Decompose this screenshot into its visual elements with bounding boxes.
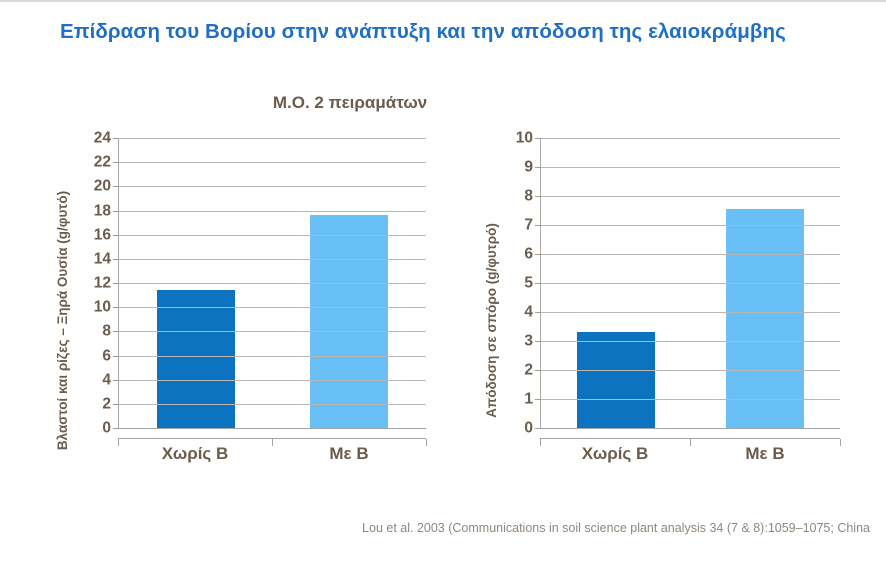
y-tick-label: 18	[94, 203, 111, 219]
y-tick-label: 24	[94, 130, 111, 146]
y-tick-mark	[113, 331, 119, 332]
plot-area-growth	[118, 138, 426, 428]
gridline	[119, 162, 426, 163]
gridline	[119, 211, 426, 212]
y-tick-label: 1	[524, 391, 533, 407]
y-tick-label: 14	[94, 251, 111, 267]
x-tick-mark	[426, 439, 427, 446]
bar-with-b[interactable]	[310, 215, 388, 428]
y-tick-mark	[113, 283, 119, 284]
y-tick-label: 0	[102, 420, 111, 436]
y-tick-mark	[113, 307, 119, 308]
x-tick-mark	[840, 439, 841, 446]
gridline	[541, 254, 840, 255]
y-tick-label: 5	[524, 275, 533, 291]
y-axis-title-yield: Απόδοση σε σπόρο (g/φυτρό)	[480, 140, 502, 500]
y-axis-title-growth-label: Βλαστοί και ρίζες – Ξηρά Ουσία (g/φυτό)	[56, 190, 71, 449]
gridline	[119, 404, 426, 405]
gridline	[541, 167, 840, 168]
y-axis-ticks-yield: 012345678910	[502, 138, 536, 428]
gridline	[119, 283, 426, 284]
y-tick-mark	[535, 312, 541, 313]
y-tick-mark	[535, 341, 541, 342]
y-tick-mark	[535, 283, 541, 284]
x-axis-growth	[118, 438, 426, 439]
y-tick-label: 10	[94, 299, 111, 315]
gridline	[541, 196, 840, 197]
y-tick-label: 4	[524, 304, 533, 320]
source-citation: Lou et al. 2003 (Communications in soil …	[300, 519, 870, 538]
x-axis-category-label: Χωρίς Β	[540, 444, 690, 464]
gridline	[541, 399, 840, 400]
gridline	[541, 283, 840, 284]
y-tick-label: 7	[524, 217, 533, 233]
gridline	[119, 259, 426, 260]
x-axis-category-label: Χωρίς Β	[118, 444, 272, 464]
gridline	[119, 235, 426, 236]
y-tick-mark	[113, 259, 119, 260]
y-axis-title-yield-label: Απόδοση σε σπόρο (g/φυτρό)	[484, 223, 499, 418]
bar-with-b[interactable]	[726, 209, 804, 428]
x-axis-category-label: Με Β	[272, 444, 426, 464]
y-tick-mark	[113, 404, 119, 405]
y-tick-mark	[535, 428, 541, 429]
gridline	[119, 356, 426, 357]
bar-without-b[interactable]	[577, 332, 655, 428]
y-tick-label: 9	[524, 159, 533, 175]
y-tick-label: 0	[524, 420, 533, 436]
gridline	[541, 225, 840, 226]
gridline	[119, 331, 426, 332]
y-tick-mark	[113, 356, 119, 357]
gridline	[541, 428, 840, 429]
gridline	[119, 138, 426, 139]
page-title: Επίδραση του Βορίου στην ανάπτυξη και τη…	[60, 18, 820, 45]
chart-yield: Απόδοση σε σπόρο (g/φυτρό) 012345678910 …	[450, 132, 870, 492]
y-axis-ticks-growth: 024681012141618202224	[80, 138, 114, 428]
y-tick-mark	[113, 235, 119, 236]
y-tick-mark	[535, 399, 541, 400]
y-tick-label: 8	[102, 324, 111, 340]
y-tick-label: 2	[524, 362, 533, 378]
plot-area-yield	[540, 138, 840, 428]
y-tick-label: 3	[524, 333, 533, 349]
gridline	[119, 186, 426, 187]
y-tick-label: 10	[516, 130, 533, 146]
y-tick-label: 20	[94, 179, 111, 195]
x-axis-labels-growth: Χωρίς ΒΜε Β	[118, 444, 426, 464]
slide-canvas: Επίδραση του Βορίου στην ανάπτυξη και τη…	[0, 0, 886, 585]
gridline	[541, 312, 840, 313]
y-tick-mark	[113, 428, 119, 429]
x-axis-yield	[540, 438, 840, 439]
y-tick-mark	[113, 162, 119, 163]
bar-without-b[interactable]	[157, 290, 235, 428]
chart-subtitle: Μ.Ο. 2 πειραμάτων	[0, 93, 700, 113]
y-tick-mark	[535, 370, 541, 371]
gridline	[541, 341, 840, 342]
y-tick-mark	[535, 167, 541, 168]
y-tick-mark	[113, 211, 119, 212]
y-tick-mark	[535, 225, 541, 226]
y-tick-label: 22	[94, 154, 111, 170]
y-tick-label: 16	[94, 227, 111, 243]
y-axis-title-growth: Βλαστοί και ρίζες – Ξηρά Ουσία (g/φυτό)	[52, 140, 74, 500]
y-tick-label: 8	[524, 188, 533, 204]
y-tick-mark	[113, 380, 119, 381]
gridline	[541, 138, 840, 139]
y-tick-label: 12	[94, 275, 111, 291]
y-tick-label: 6	[102, 348, 111, 364]
gridline	[119, 428, 426, 429]
y-tick-label: 6	[524, 246, 533, 262]
gridline	[119, 307, 426, 308]
gridline	[119, 380, 426, 381]
chart-growth: Βλαστοί και ρίζες – Ξηρά Ουσία (g/φυτό) …	[30, 132, 450, 492]
y-tick-mark	[535, 196, 541, 197]
x-axis-labels-yield: Χωρίς ΒΜε Β	[540, 444, 840, 464]
gridline	[541, 370, 840, 371]
y-tick-mark	[535, 254, 541, 255]
x-axis-category-label: Με Β	[690, 444, 840, 464]
y-tick-mark	[113, 138, 119, 139]
y-tick-mark	[535, 138, 541, 139]
y-tick-label: 2	[102, 396, 111, 412]
y-tick-label: 4	[102, 372, 111, 388]
y-tick-mark	[113, 186, 119, 187]
